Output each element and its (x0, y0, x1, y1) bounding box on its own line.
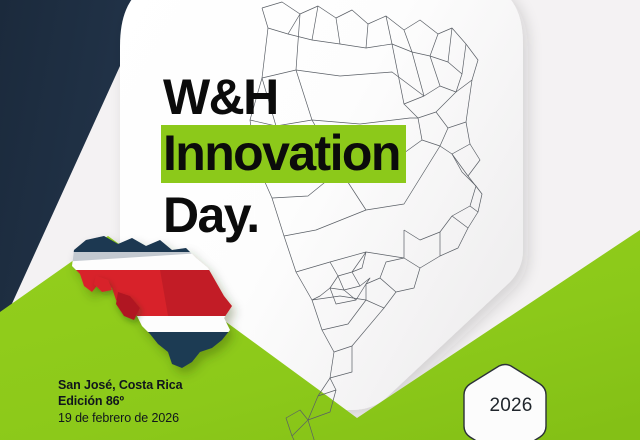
headline-line-2-highlighted: Innovation (161, 125, 406, 183)
event-date: 19 de febrero de 2026 (58, 410, 182, 427)
poster-headline: W&H Innovation Day. (163, 72, 406, 240)
event-venue: San José, Costa Rica (58, 377, 182, 393)
year-badge-label: 2026 (475, 365, 547, 440)
event-details: San José, Costa Rica Edición 86º 19 de f… (58, 377, 182, 427)
year-badge: 2026 (475, 365, 547, 440)
event-poster: W&H Innovation Day. San José, Costa Rica… (0, 0, 640, 440)
event-edition: Edición 86º (58, 393, 182, 409)
headline-line-3: Day. (163, 190, 406, 240)
headline-line-1: W&H (163, 72, 406, 122)
